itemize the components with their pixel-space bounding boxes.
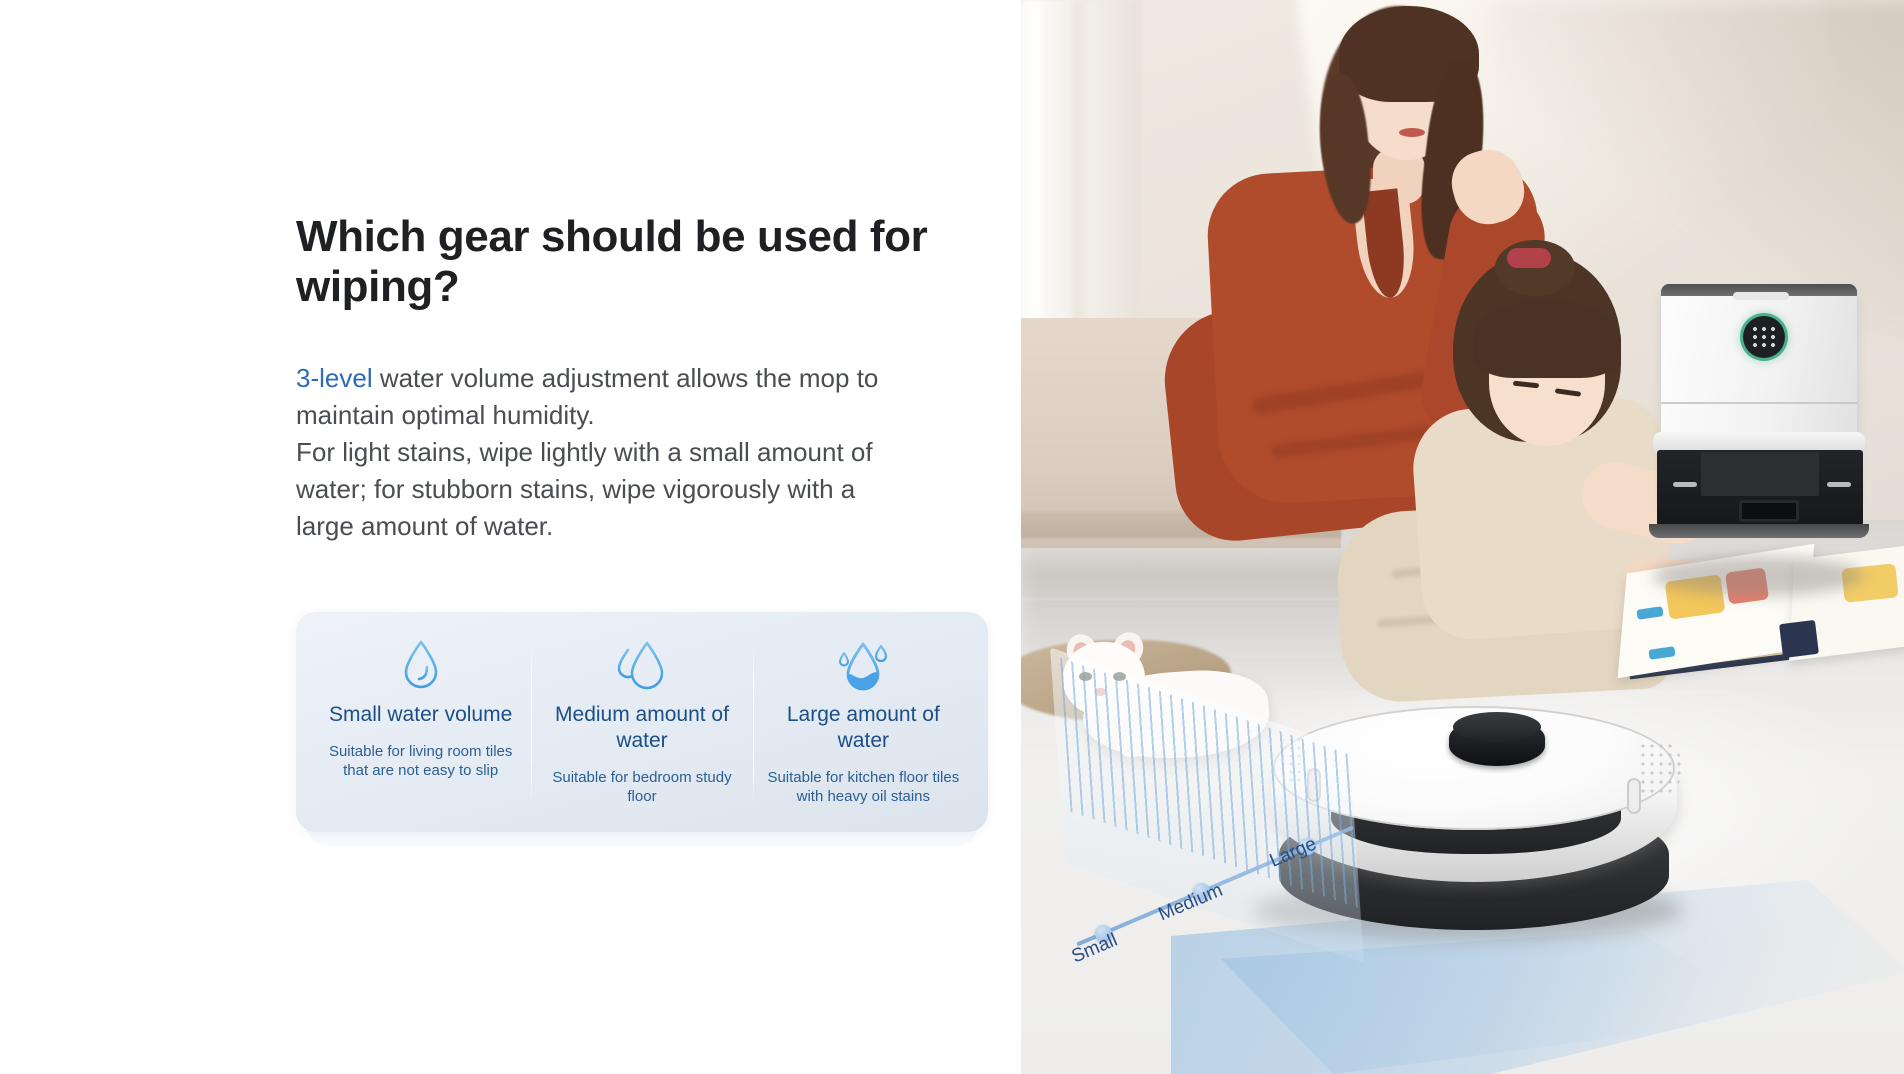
gear-options-card: Small water volume Suitable for living r… <box>296 612 988 832</box>
body-line-1: 3-level water volume adjustment allows t… <box>296 360 916 434</box>
water-drop-outline-icon <box>400 634 442 692</box>
girl-hair-tie <box>1507 248 1551 268</box>
robot-vacuum-lidar-cap <box>1453 712 1541 742</box>
gear-option-large-subtitle: Suitable for kitchen floor tiles with he… <box>761 768 966 806</box>
woman-lips <box>1399 128 1425 137</box>
water-drop-filled-icon <box>835 634 891 692</box>
dock-handle <box>1733 292 1789 300</box>
girl-hair-front <box>1473 300 1621 378</box>
gear-option-medium-title: Medium amount of water <box>539 702 744 754</box>
left-text-panel: Which gear should be used for wiping? 3-… <box>0 0 1021 1074</box>
copy-block: Which gear should be used for wiping? 3-… <box>296 212 976 545</box>
robot-vacuum-sensor-right <box>1627 778 1641 814</box>
gear-option-large[interactable]: Large amount of water Suitable for kitch… <box>753 634 974 806</box>
gear-option-small[interactable]: Small water volume Suitable for living r… <box>310 634 531 806</box>
book-spine <box>1779 620 1819 658</box>
page-title: Which gear should be used for wiping? <box>296 212 966 312</box>
dock-docking-bay <box>1701 452 1819 496</box>
water-drop-double-icon <box>614 634 670 692</box>
dock-seam <box>1661 402 1857 404</box>
robot-vacuum-vent-right <box>1639 742 1681 794</box>
product-feature-page: Which gear should be used for wiping? 3-… <box>0 0 1904 1074</box>
gear-option-medium-subtitle: Suitable for bedroom study floor <box>539 768 744 806</box>
gear-option-small-title: Small water volume <box>329 702 512 728</box>
gear-card-wrapper: Small water volume Suitable for living r… <box>296 612 988 832</box>
dock-slot <box>1739 500 1799 522</box>
gear-option-small-subtitle: Suitable for living room tiles that are … <box>318 742 523 780</box>
body-line-2: For light stains, wipe lightly with a sm… <box>296 434 916 545</box>
accent-3-level: 3-level <box>296 363 373 393</box>
dock-indicator-right <box>1827 482 1851 487</box>
gear-option-large-title: Large amount of water <box>761 702 966 754</box>
dock-indicator-left <box>1673 482 1697 487</box>
body-line-1-rest: water volume adjustment allows the mop t… <box>296 363 878 430</box>
lifestyle-photo: Small Medium Large <box>1021 0 1904 1074</box>
gear-option-medium[interactable]: Medium amount of water Suitable for bedr… <box>531 634 752 806</box>
dock-floor-plate <box>1649 524 1869 538</box>
dock-display-dots-icon <box>1752 326 1776 348</box>
dock-shadow <box>1653 556 1863 596</box>
body-description: 3-level water volume adjustment allows t… <box>296 360 916 545</box>
